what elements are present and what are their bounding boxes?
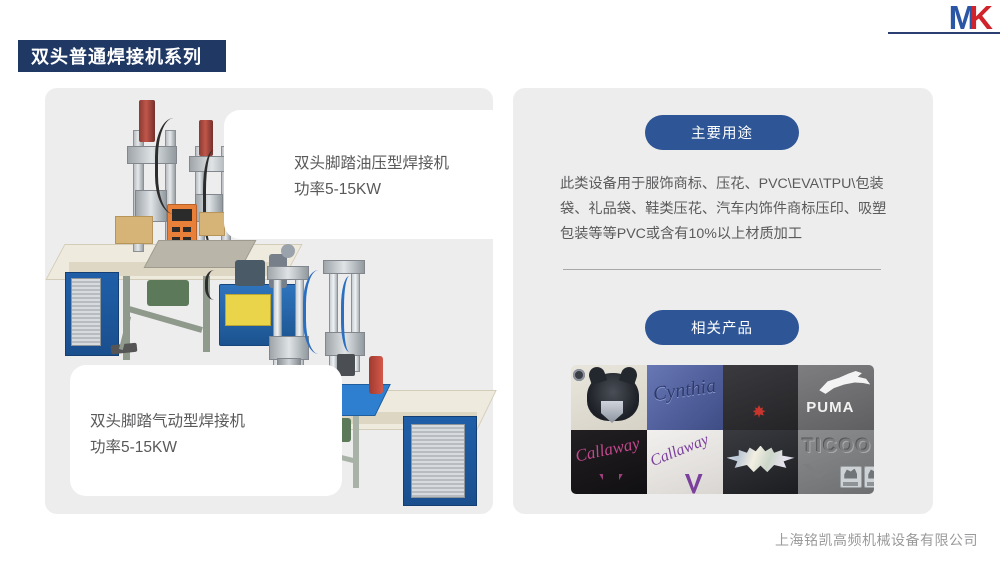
care-label-icon-2 [864, 466, 874, 488]
products-panel: 双头脚踏油压型焊接机 功率5-15KW 双头脚踏气动型焊接机 功率5-15KW [45, 88, 493, 514]
related-products-pill: 相关产品 [645, 310, 799, 345]
collage-tile-batman-emblem [723, 430, 799, 495]
usage-pill: 主要用途 [645, 115, 799, 150]
pink-script-text: Callaway [574, 433, 642, 466]
related-products-collage: Cynthia PUMA Callaway Callaway TICOO [571, 365, 874, 494]
product-1-caption: 双头脚踏油压型焊接机 功率5-15KW [294, 151, 449, 203]
product-2-name: 双头脚踏气动型焊接机 [90, 409, 245, 435]
related-products-pill-label: 相关产品 [691, 317, 753, 338]
cursive-logo-text: Cynthia [651, 375, 717, 407]
section-title-bar: 双头普通焊接机系列 [18, 40, 226, 72]
collage-tile-purple-script: Callaway [647, 430, 723, 495]
collage-tile-red-leaf [723, 365, 799, 430]
section-divider [563, 269, 881, 270]
product-2-power: 功率5-15KW [90, 435, 245, 461]
puma-wordmark: PUMA [806, 399, 854, 416]
care-label-icon-1 [840, 466, 862, 488]
product-1-power: 功率5-15KW [294, 177, 449, 203]
product-caption-card-2: 双头脚踏气动型焊接机 功率5-15KW [70, 365, 342, 496]
purple-script-text: Callaway [648, 431, 712, 471]
collage-tile-embossed-logotype: TICOO [798, 430, 874, 495]
embossed-wordmark: TICOO [802, 436, 872, 458]
tiger-side-badge-icon [573, 369, 585, 381]
footer-company-name: 上海铭凯高频机械设备有限公司 [775, 530, 978, 550]
collage-tile-pink-script: Callaway [571, 430, 647, 495]
product-2-caption: 双头脚踏气动型焊接机 功率5-15KW [90, 409, 245, 461]
usage-pill-label: 主要用途 [691, 122, 753, 143]
collage-tile-cursive-logo: Cynthia [647, 365, 723, 430]
v-mark-icon [685, 474, 703, 494]
brand-logo: MK [888, 0, 1000, 34]
embossed-chevron-icon [802, 464, 836, 482]
logo-mark: MK [949, 1, 990, 34]
collage-tile-puma: PUMA [798, 365, 874, 430]
logo-letter-k: K [969, 0, 990, 36]
section-title-text: 双头普通焊接机系列 [31, 43, 202, 69]
product-1-name: 双头脚踏油压型焊接机 [294, 151, 449, 177]
chevron-mark-icon [599, 474, 623, 492]
logo-underline [888, 32, 1000, 34]
bat-emblem-icon [727, 446, 795, 482]
product-caption-card-1: 双头脚踏油压型焊接机 功率5-15KW [224, 110, 509, 239]
usage-description: 此类设备用于服饰商标、压花、PVC\EVA\TPU\包装袋、礼品袋、鞋类压花、汽… [560, 172, 900, 247]
collage-tile-tiger-emblem [571, 365, 647, 430]
maple-leaf-icon [753, 405, 766, 418]
puma-cat-icon [818, 371, 870, 397]
info-panel: 主要用途 此类设备用于服饰商标、压花、PVC\EVA\TPU\包装袋、礼品袋、鞋… [513, 88, 933, 514]
